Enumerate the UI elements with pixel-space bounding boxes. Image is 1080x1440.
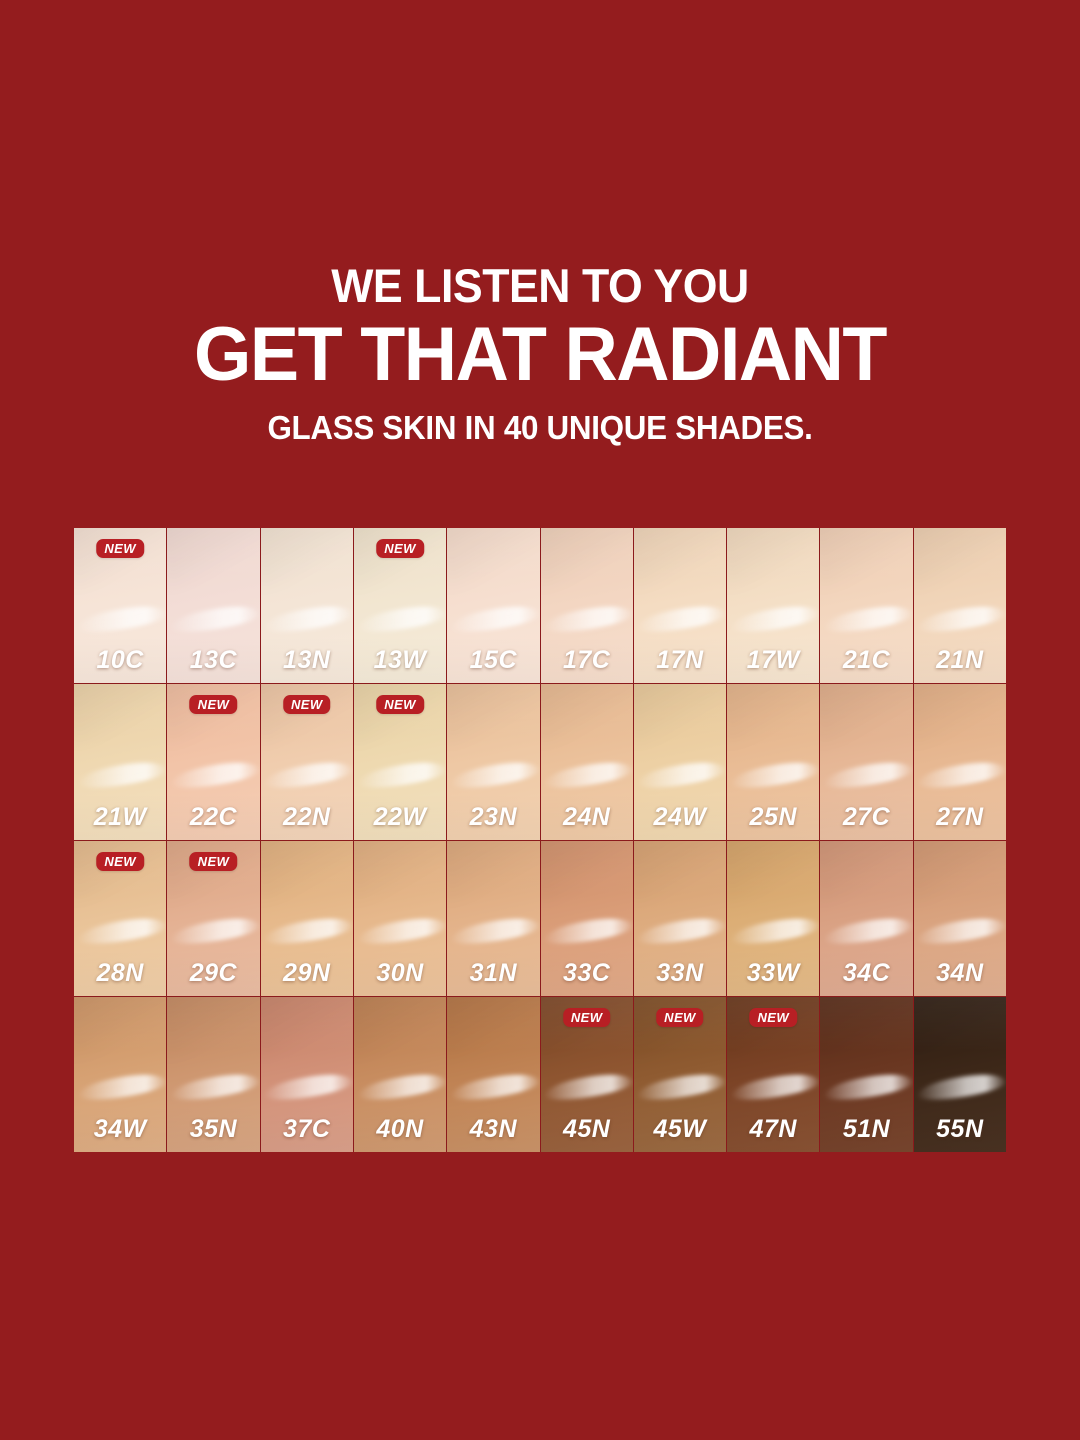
swatch-smear-highlight: [916, 914, 1006, 948]
shade-code-label: 40N: [354, 1115, 446, 1144]
shade-code-label: 13W: [354, 646, 446, 675]
swatch-shadow: [820, 841, 912, 904]
shade-swatch[interactable]: 35N: [167, 997, 259, 1152]
shade-code-label: 21N: [914, 646, 1006, 675]
shade-code-label: 34C: [820, 959, 912, 988]
swatch-smear-highlight: [263, 758, 353, 792]
shade-swatch[interactable]: 34W: [74, 997, 166, 1152]
swatch-smear-highlight: [543, 1071, 633, 1105]
shade-swatch[interactable]: 40N: [354, 997, 446, 1152]
swatch-shadow: [634, 997, 726, 1060]
swatch-smear-highlight: [543, 758, 633, 792]
shade-swatch[interactable]: NEW22C: [167, 684, 259, 839]
swatch-smear-highlight: [170, 1071, 260, 1105]
swatch-shadow: [541, 841, 633, 904]
swatch-smear-highlight: [170, 914, 260, 948]
shade-code-label: 27N: [914, 803, 1006, 832]
shade-code-label: 45W: [634, 1115, 726, 1144]
shade-code-label: 28N: [74, 959, 166, 988]
new-badge: NEW: [283, 695, 331, 714]
shade-swatch[interactable]: 21N: [914, 528, 1006, 683]
shade-swatch[interactable]: 33W: [727, 841, 819, 996]
shade-swatch[interactable]: 33C: [541, 841, 633, 996]
new-badge: NEW: [656, 1008, 704, 1027]
swatch-smear-highlight: [730, 758, 820, 792]
swatch-smear-highlight: [263, 914, 353, 948]
shade-code-label: 17W: [727, 646, 819, 675]
shade-code-label: 55N: [914, 1115, 1006, 1144]
shade-swatch[interactable]: NEW28N: [74, 841, 166, 996]
swatch-smear-highlight: [357, 602, 447, 636]
shade-swatch[interactable]: NEW22W: [354, 684, 446, 839]
swatch-shadow: [447, 528, 539, 591]
shade-swatch[interactable]: 30N: [354, 841, 446, 996]
swatch-smear-highlight: [823, 1071, 913, 1105]
shade-code-label: 33N: [634, 959, 726, 988]
shade-code-label: 13C: [167, 646, 259, 675]
swatch-smear-highlight: [357, 914, 447, 948]
shade-swatch[interactable]: NEW47N: [727, 997, 819, 1152]
shade-swatch[interactable]: 43N: [447, 997, 539, 1152]
shade-swatch[interactable]: 33N: [634, 841, 726, 996]
headline-subtitle: GLASS SKIN IN 40 UNIQUE SHADES.: [27, 411, 1053, 444]
shade-swatch[interactable]: NEW22N: [261, 684, 353, 839]
swatch-shadow: [167, 528, 259, 591]
swatch-shadow: [820, 684, 912, 747]
swatch-shadow: [74, 997, 166, 1060]
swatch-smear-highlight: [730, 914, 820, 948]
swatch-shadow: [727, 997, 819, 1060]
swatch-shadow: [634, 528, 726, 591]
shade-swatch[interactable]: 15C: [447, 528, 539, 683]
new-badge: NEW: [376, 539, 424, 558]
shade-swatch[interactable]: 25N: [727, 684, 819, 839]
shade-code-label: 25N: [727, 803, 819, 832]
swatch-shadow: [914, 841, 1006, 904]
swatch-shadow: [167, 997, 259, 1060]
shade-swatch[interactable]: 17C: [541, 528, 633, 683]
headline-eyebrow: WE LISTEN TO YOU: [27, 262, 1053, 309]
swatch-shadow: [167, 684, 259, 747]
swatch-smear-highlight: [263, 1071, 353, 1105]
shade-code-label: 27C: [820, 803, 912, 832]
shade-range-poster: WE LISTEN TO YOU GET THAT RADIANT GLASS …: [0, 0, 1080, 1440]
shade-swatch[interactable]: 31N: [447, 841, 539, 996]
shade-swatch[interactable]: 13N: [261, 528, 353, 683]
new-badge: NEW: [96, 539, 144, 558]
shade-code-label: 34W: [74, 1115, 166, 1144]
shade-code-label: 43N: [447, 1115, 539, 1144]
swatch-smear-highlight: [77, 1071, 167, 1105]
shade-swatch[interactable]: 27C: [820, 684, 912, 839]
swatch-smear-highlight: [450, 1071, 540, 1105]
swatch-shadow: [634, 684, 726, 747]
shade-swatch[interactable]: 37C: [261, 997, 353, 1152]
swatch-smear-highlight: [916, 602, 1006, 636]
shade-swatch-grid: NEW10C13C13NNEW13W15C17C17N17W21C21N21WN…: [74, 528, 1006, 1152]
shade-code-label: 22C: [167, 803, 259, 832]
swatch-shadow: [820, 528, 912, 591]
swatch-shadow: [541, 684, 633, 747]
shade-swatch[interactable]: 34N: [914, 841, 1006, 996]
swatch-shadow: [74, 684, 166, 747]
shade-swatch[interactable]: 23N: [447, 684, 539, 839]
shade-code-label: 34N: [914, 959, 1006, 988]
swatch-smear-highlight: [636, 758, 726, 792]
swatch-smear-highlight: [450, 914, 540, 948]
shade-swatch[interactable]: 34C: [820, 841, 912, 996]
shade-code-label: 23N: [447, 803, 539, 832]
swatch-shadow: [820, 997, 912, 1060]
new-badge: NEW: [749, 1008, 797, 1027]
shade-code-label: 30N: [354, 959, 446, 988]
swatch-smear-highlight: [823, 914, 913, 948]
shade-code-label: 24W: [634, 803, 726, 832]
swatch-smear-highlight: [730, 602, 820, 636]
swatch-shadow: [541, 528, 633, 591]
swatch-smear-highlight: [357, 1071, 447, 1105]
swatch-shadow: [447, 997, 539, 1060]
shade-swatch[interactable]: NEW45W: [634, 997, 726, 1152]
swatch-smear-highlight: [916, 1071, 1006, 1105]
shade-swatch[interactable]: 21W: [74, 684, 166, 839]
shade-swatch[interactable]: NEW10C: [74, 528, 166, 683]
swatch-shadow: [167, 841, 259, 904]
swatch-smear-highlight: [170, 758, 260, 792]
swatch-smear-highlight: [636, 914, 726, 948]
shade-code-label: 10C: [74, 646, 166, 675]
swatch-shadow: [354, 997, 446, 1060]
swatch-smear-highlight: [730, 1071, 820, 1105]
swatch-shadow: [727, 684, 819, 747]
shade-code-label: 47N: [727, 1115, 819, 1144]
swatch-smear-highlight: [263, 602, 353, 636]
swatch-smear-highlight: [543, 602, 633, 636]
shade-code-label: 29N: [261, 959, 353, 988]
shade-swatch[interactable]: 13C: [167, 528, 259, 683]
shade-code-label: 45N: [541, 1115, 633, 1144]
shade-code-label: 22W: [354, 803, 446, 832]
shade-code-label: 33W: [727, 959, 819, 988]
swatch-shadow: [447, 841, 539, 904]
swatch-shadow: [914, 684, 1006, 747]
shade-swatch[interactable]: 55N: [914, 997, 1006, 1152]
swatch-shadow: [261, 684, 353, 747]
shade-swatch[interactable]: 24W: [634, 684, 726, 839]
shade-swatch[interactable]: NEW29C: [167, 841, 259, 996]
new-badge: NEW: [563, 1008, 611, 1027]
shade-code-label: 24N: [541, 803, 633, 832]
swatch-shadow: [914, 528, 1006, 591]
swatch-smear-highlight: [823, 602, 913, 636]
shade-code-label: 37C: [261, 1115, 353, 1144]
swatch-shadow: [261, 528, 353, 591]
swatch-smear-highlight: [77, 758, 167, 792]
new-badge: NEW: [96, 852, 144, 871]
swatch-smear-highlight: [357, 758, 447, 792]
shade-code-label: 21W: [74, 803, 166, 832]
shade-code-label: 13N: [261, 646, 353, 675]
swatch-shadow: [74, 528, 166, 591]
headline-block: WE LISTEN TO YOU GET THAT RADIANT GLASS …: [0, 262, 1080, 444]
swatch-smear-highlight: [636, 602, 726, 636]
shade-code-label: 17N: [634, 646, 726, 675]
shade-code-label: 31N: [447, 959, 539, 988]
new-badge: NEW: [376, 695, 424, 714]
swatch-shadow: [354, 841, 446, 904]
shade-swatch[interactable]: NEW13W: [354, 528, 446, 683]
swatch-shadow: [74, 841, 166, 904]
swatch-smear-highlight: [916, 758, 1006, 792]
swatch-shadow: [354, 528, 446, 591]
swatch-shadow: [261, 841, 353, 904]
swatch-smear-highlight: [543, 914, 633, 948]
shade-code-label: 29C: [167, 959, 259, 988]
shade-code-label: 22N: [261, 803, 353, 832]
swatch-smear-highlight: [636, 1071, 726, 1105]
swatch-smear-highlight: [77, 914, 167, 948]
swatch-shadow: [447, 684, 539, 747]
shade-swatch[interactable]: 27N: [914, 684, 1006, 839]
swatch-shadow: [541, 997, 633, 1060]
new-badge: NEW: [190, 695, 238, 714]
shade-swatch[interactable]: 24N: [541, 684, 633, 839]
shade-swatch[interactable]: NEW45N: [541, 997, 633, 1152]
swatch-smear-highlight: [170, 602, 260, 636]
shade-swatch[interactable]: 29N: [261, 841, 353, 996]
swatch-shadow: [727, 841, 819, 904]
swatch-shadow: [914, 997, 1006, 1060]
shade-code-label: 15C: [447, 646, 539, 675]
swatch-shadow: [261, 997, 353, 1060]
shade-code-label: 35N: [167, 1115, 259, 1144]
shade-swatch[interactable]: 51N: [820, 997, 912, 1152]
swatch-smear-highlight: [450, 758, 540, 792]
shade-swatch[interactable]: 17W: [727, 528, 819, 683]
swatch-smear-highlight: [450, 602, 540, 636]
shade-code-label: 17C: [541, 646, 633, 675]
shade-code-label: 33C: [541, 959, 633, 988]
swatch-shadow: [634, 841, 726, 904]
shade-swatch[interactable]: 17N: [634, 528, 726, 683]
swatch-shadow: [354, 684, 446, 747]
swatch-shadow: [727, 528, 819, 591]
headline-main: GET THAT RADIANT: [16, 317, 1064, 393]
shade-code-label: 21C: [820, 646, 912, 675]
shade-code-label: 51N: [820, 1115, 912, 1144]
swatch-smear-highlight: [823, 758, 913, 792]
shade-swatch[interactable]: 21C: [820, 528, 912, 683]
swatch-smear-highlight: [77, 602, 167, 636]
new-badge: NEW: [190, 852, 238, 871]
